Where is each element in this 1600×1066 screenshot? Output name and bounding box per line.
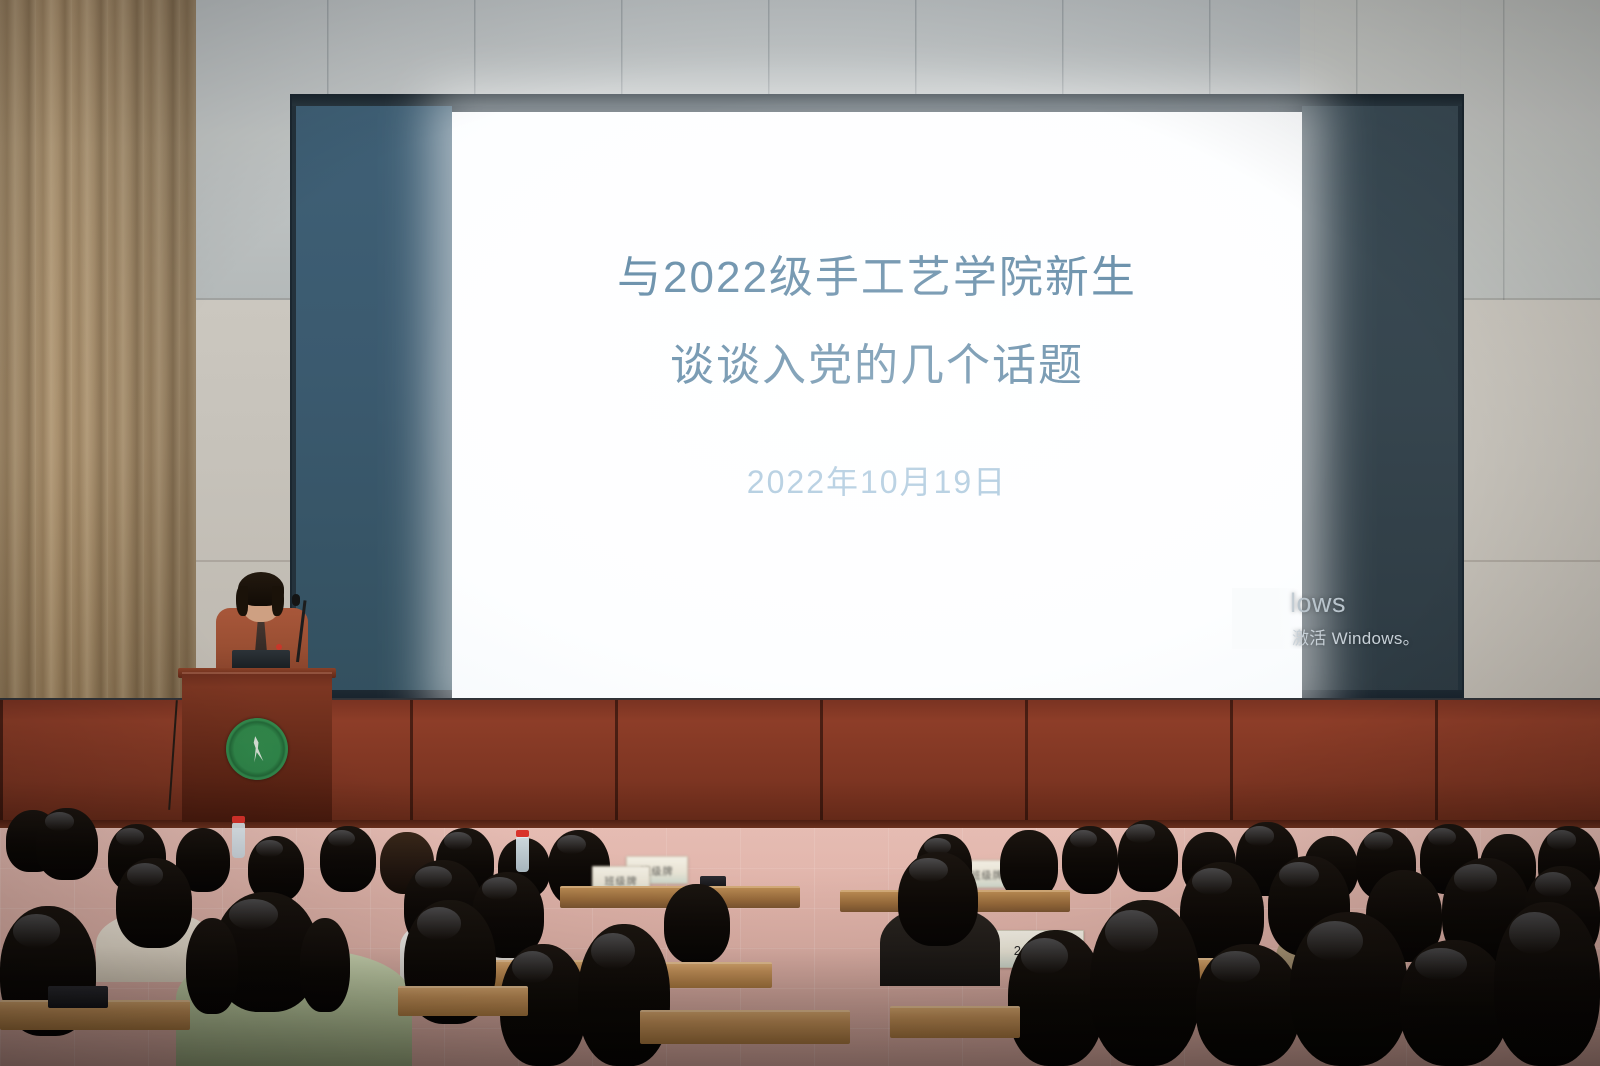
slide-date: 2022年10月19日 [452,457,1302,503]
screen-top-rail [292,96,1462,106]
audience-head [664,884,730,964]
audience-head [116,858,192,948]
presentation-slide: 与2022级手工艺学院新生 谈谈入党的几个话题 2022年10月19日 [452,112,1302,700]
university-emblem-icon [226,718,288,780]
water-bottle [516,836,529,872]
microphone-head [292,594,300,606]
stage-curtain [0,0,196,812]
audience-head [1400,940,1508,1066]
audience-head [36,808,98,880]
audience-head [898,852,978,946]
water-bottle [232,822,245,858]
slide-title-line-1: 与2022级手工艺学院新生 [452,254,1302,302]
water-bottle-cap [232,816,245,823]
audience-head [1090,900,1200,1066]
desk-tablet [48,986,108,1008]
audience-head [1196,944,1300,1066]
audience-head [320,826,376,892]
audience-desk [398,986,528,1016]
audience-head [578,924,670,1066]
slide-title-line-2: 谈谈入党的几个话题 [452,342,1302,390]
audience-head [1118,820,1178,892]
audience-desk [890,1006,1020,1038]
audience-desk [640,1010,850,1044]
screen-side-panel-right [1302,101,1458,697]
screen-side-panel-left [296,101,452,697]
water-bottle-cap [516,830,529,837]
speaker-hair-left [236,586,248,616]
audience-head [1494,902,1600,1066]
audience-hair-strand [300,918,350,1012]
speaker-hair-right [272,586,284,616]
lecture-hall-scene: 与2022级手工艺学院新生 谈谈入党的几个话题 2022年10月19日 lows… [0,0,1600,1066]
audience-head [1290,912,1408,1066]
audience-hair-strand [186,918,238,1014]
audience-head [1062,826,1118,894]
